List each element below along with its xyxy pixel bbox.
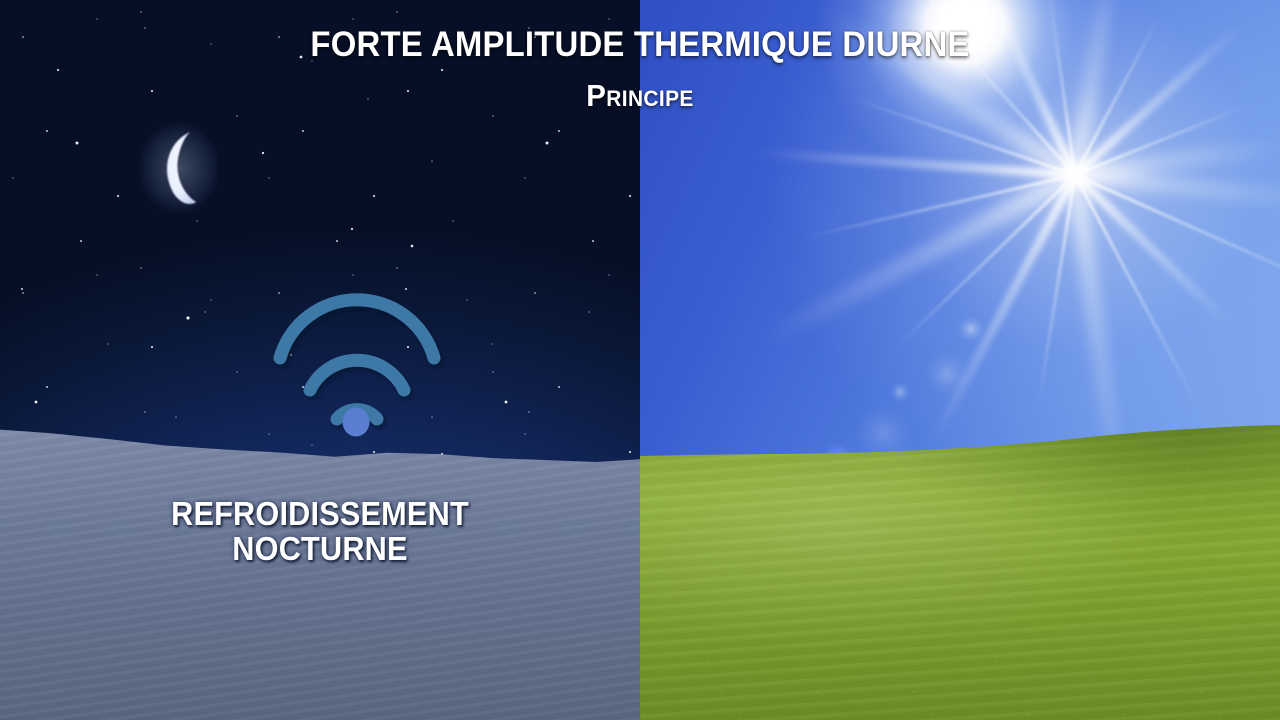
- crescent-moon-icon: [148, 128, 210, 206]
- grass-field-surface: [640, 414, 1280, 720]
- page-title: FORTE AMPLITUDE THERMIQUE DIURNE: [38, 26, 1241, 63]
- night-label: REFROIDISSEMENT NOCTURNE: [22, 497, 617, 567]
- page-subtitle: Principe: [32, 80, 1248, 113]
- outgoing-radiation-waves-icon: [262, 270, 452, 440]
- grass-texture-noise: [640, 414, 1280, 720]
- radiation-source-dot: [343, 408, 370, 437]
- moon-glow: [126, 108, 232, 228]
- radiation-waves-glyph: [262, 270, 452, 440]
- infographic-canvas: REFROIDISSEMENT NOCTURNE: [0, 0, 1280, 720]
